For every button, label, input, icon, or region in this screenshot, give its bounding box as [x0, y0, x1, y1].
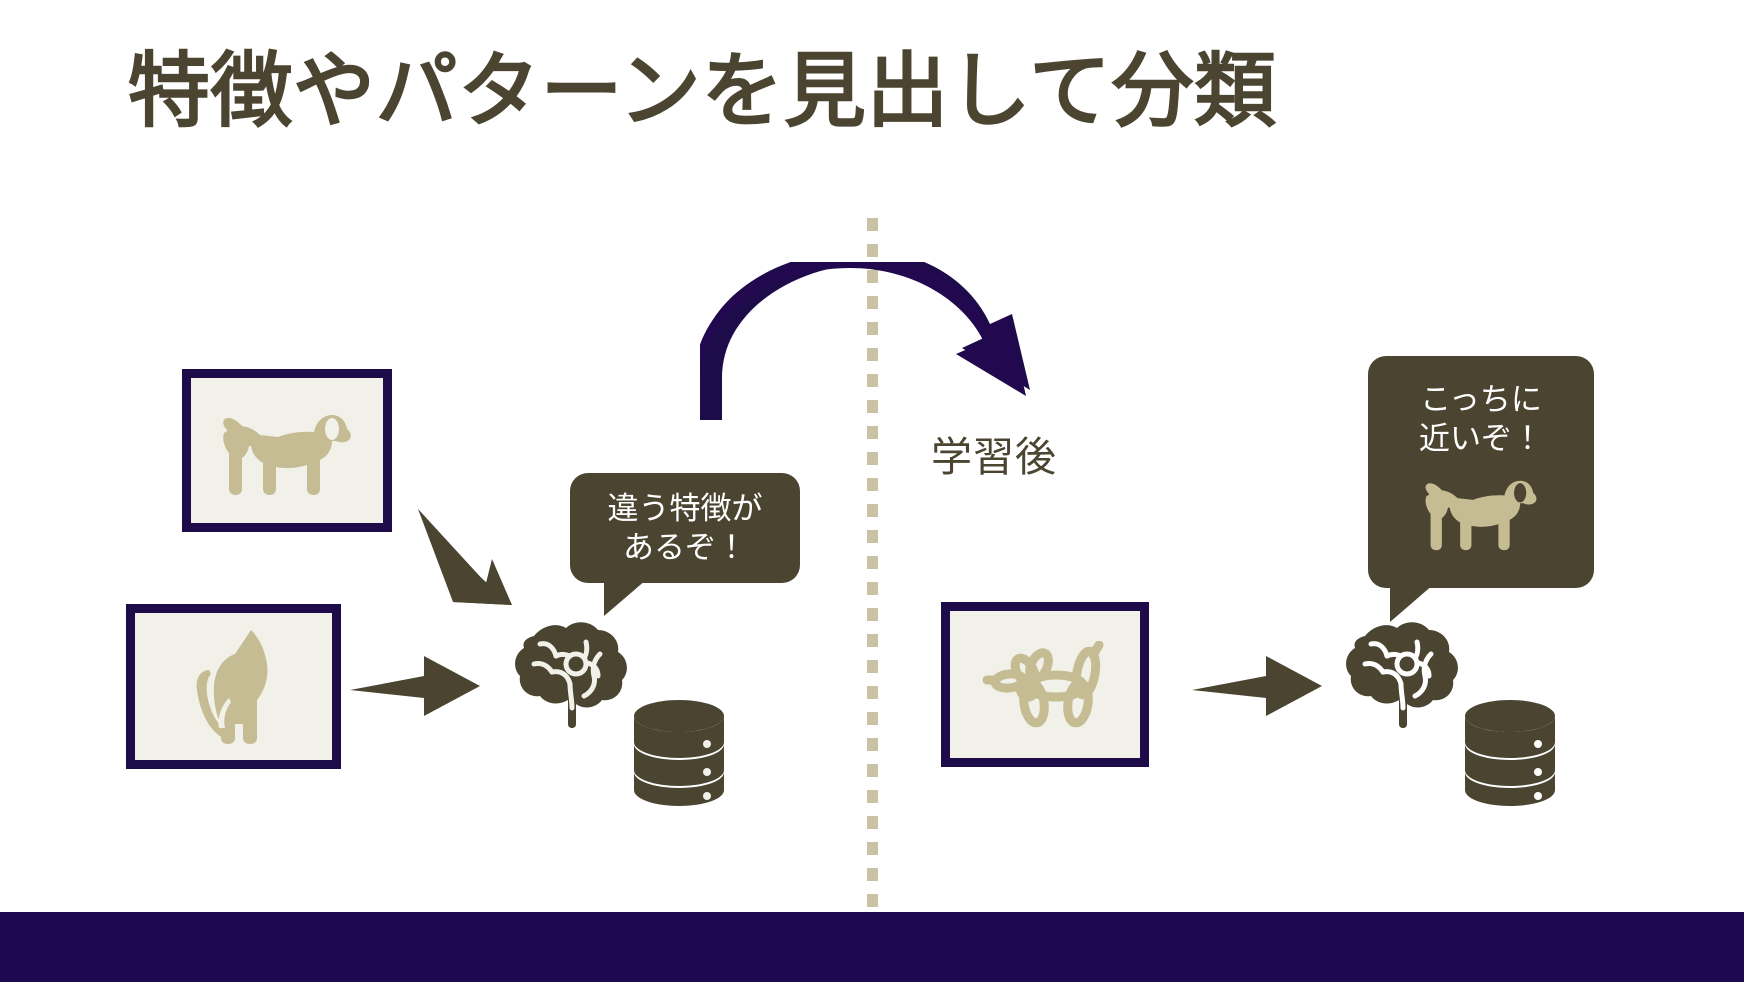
- brain-icon: [1345, 618, 1461, 735]
- speech-bubble-right-text: こっちに 近いぞ！: [1419, 380, 1543, 458]
- stage-label-after-learning: 学習後: [931, 423, 1057, 483]
- image-frame-dog[interactable]: [182, 369, 392, 532]
- curved-arrow-icon: [700, 262, 1030, 422]
- speech-bubble-left-text: 違う特徴が あるぞ！: [608, 489, 763, 567]
- speech-bubble-tail: [1390, 584, 1434, 622]
- database-icon: [1462, 698, 1558, 813]
- dog-icon: [222, 405, 352, 497]
- slide-canvas: 特徴やパターンを見出して分類: [0, 0, 1744, 982]
- speech-bubble-tail: [604, 580, 646, 616]
- page-title: 特徴やパターンを見出して分類: [128, 46, 1276, 138]
- model-cluster-left: [514, 618, 734, 810]
- speech-bubble-right: こっちに 近いぞ！: [1368, 356, 1594, 588]
- database-icon: [631, 698, 727, 813]
- arrow-diagonal-down-right-icon: [416, 505, 526, 610]
- model-cluster-right: [1345, 618, 1565, 810]
- arrow-right-icon: [1192, 650, 1324, 722]
- balloon-dog-icon: [981, 641, 1109, 729]
- cat-icon: [185, 628, 283, 746]
- speech-bubble-left: 違う特徴が あるぞ！: [570, 473, 800, 583]
- bottom-accent-band: [0, 912, 1744, 982]
- brain-icon: [514, 618, 630, 735]
- arrow-right-icon: [350, 650, 482, 722]
- dog-icon: [1420, 472, 1542, 557]
- image-frame-balloon-dog[interactable]: [941, 602, 1149, 767]
- image-frame-cat[interactable]: [126, 604, 341, 769]
